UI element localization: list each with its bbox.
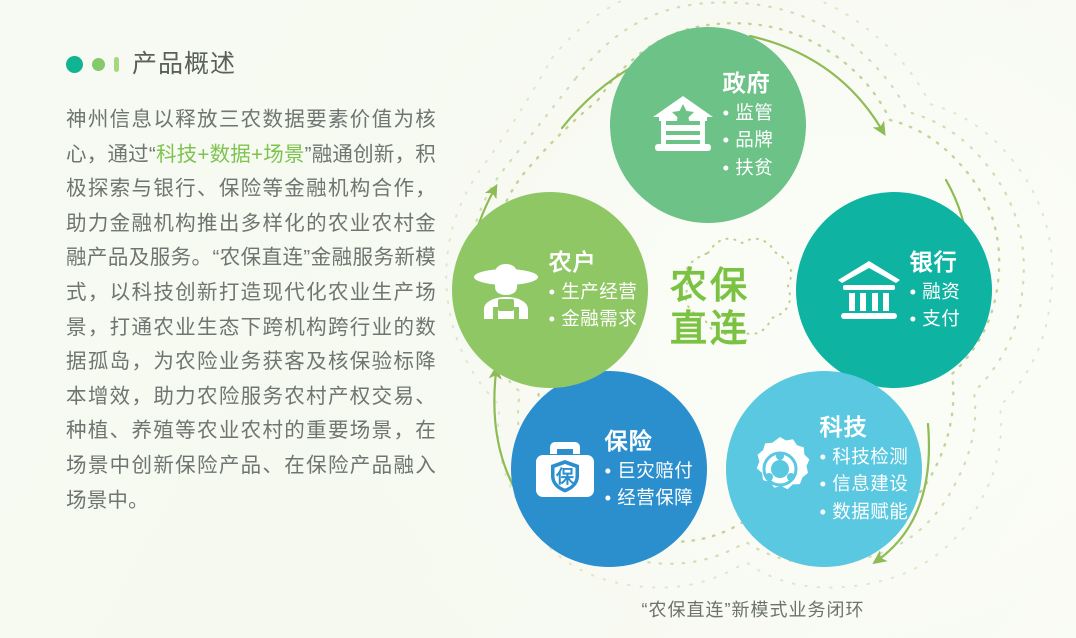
node-item: 扶贫 [723, 154, 774, 181]
diagram-center-label: 农保 直连 [645, 250, 775, 365]
node-item: 信息建设 [820, 470, 909, 497]
government-building-icon [651, 94, 715, 156]
node-title-technology: 科技 [820, 413, 909, 442]
node-government[interactable]: 政府 监管 品牌 扶贫 [610, 27, 806, 223]
dot-large-teal-icon [66, 56, 83, 73]
node-farmer[interactable]: 农户 生产经营 金融需求 [452, 192, 648, 388]
farmer-hat-icon [471, 259, 541, 321]
overview-paragraph: 神州信息以释放三农数据要素价值为核心，通过“科技+数据+场景”融通创新，积极探索… [66, 103, 436, 518]
gear-icon [748, 437, 812, 501]
node-item: 数据赋能 [820, 498, 909, 525]
node-title-government: 政府 [723, 69, 774, 98]
node-bank[interactable]: 银行 融资 支付 [796, 192, 992, 388]
node-item: 融资 [910, 278, 961, 305]
insurance-briefcase-shield-icon: 保 [533, 438, 597, 500]
dot-medium-green-icon [92, 58, 105, 71]
overview-text-column: 产品概述 神州信息以释放三农数据要素价值为核心，通过“科技+数据+场景”融通创新… [66, 52, 436, 518]
infographic-page: 产品概述 神州信息以释放三农数据要素价值为核心，通过“科技+数据+场景”融通创新… [0, 0, 1076, 638]
page-title: 产品概述 [132, 52, 236, 77]
node-item: 品牌 [723, 126, 774, 153]
diagram-caption: “农保直连”新模式业务闭环 [430, 596, 1076, 622]
node-item: 金融需求 [549, 305, 638, 332]
node-item: 监管 [723, 99, 774, 126]
node-item: 支付 [910, 305, 961, 332]
center-label-line2: 直连 [670, 308, 750, 351]
business-loop-diagram: 政府 监管 品牌 扶贫 [430, 0, 1076, 638]
node-title-farmer: 农户 [549, 248, 638, 277]
node-item: 巨灾赔付 [605, 457, 694, 484]
node-title-bank: 银行 [910, 248, 961, 277]
node-insurance[interactable]: 保 保险 巨灾赔付 经营保障 [511, 371, 707, 567]
bank-columns-icon [836, 259, 902, 321]
node-technology[interactable]: 科技 科技检测 信息建设 数据赋能 [726, 371, 922, 567]
paragraph-highlight: 科技+数据+场景 [156, 143, 305, 166]
svg-text:保: 保 [555, 466, 575, 487]
node-item: 科技检测 [820, 443, 909, 470]
node-title-insurance: 保险 [605, 427, 694, 456]
bar-green-icon [114, 57, 119, 72]
section-heading: 产品概述 [66, 52, 436, 77]
node-item: 经营保障 [605, 484, 694, 511]
paragraph-part-2: ”融通创新，积极探索与银行、保险等金融机构合作，助力金融机构推出多样化的农业农村… [66, 143, 436, 512]
node-item: 生产经营 [549, 278, 638, 305]
center-label-line1: 农保 [670, 265, 750, 308]
